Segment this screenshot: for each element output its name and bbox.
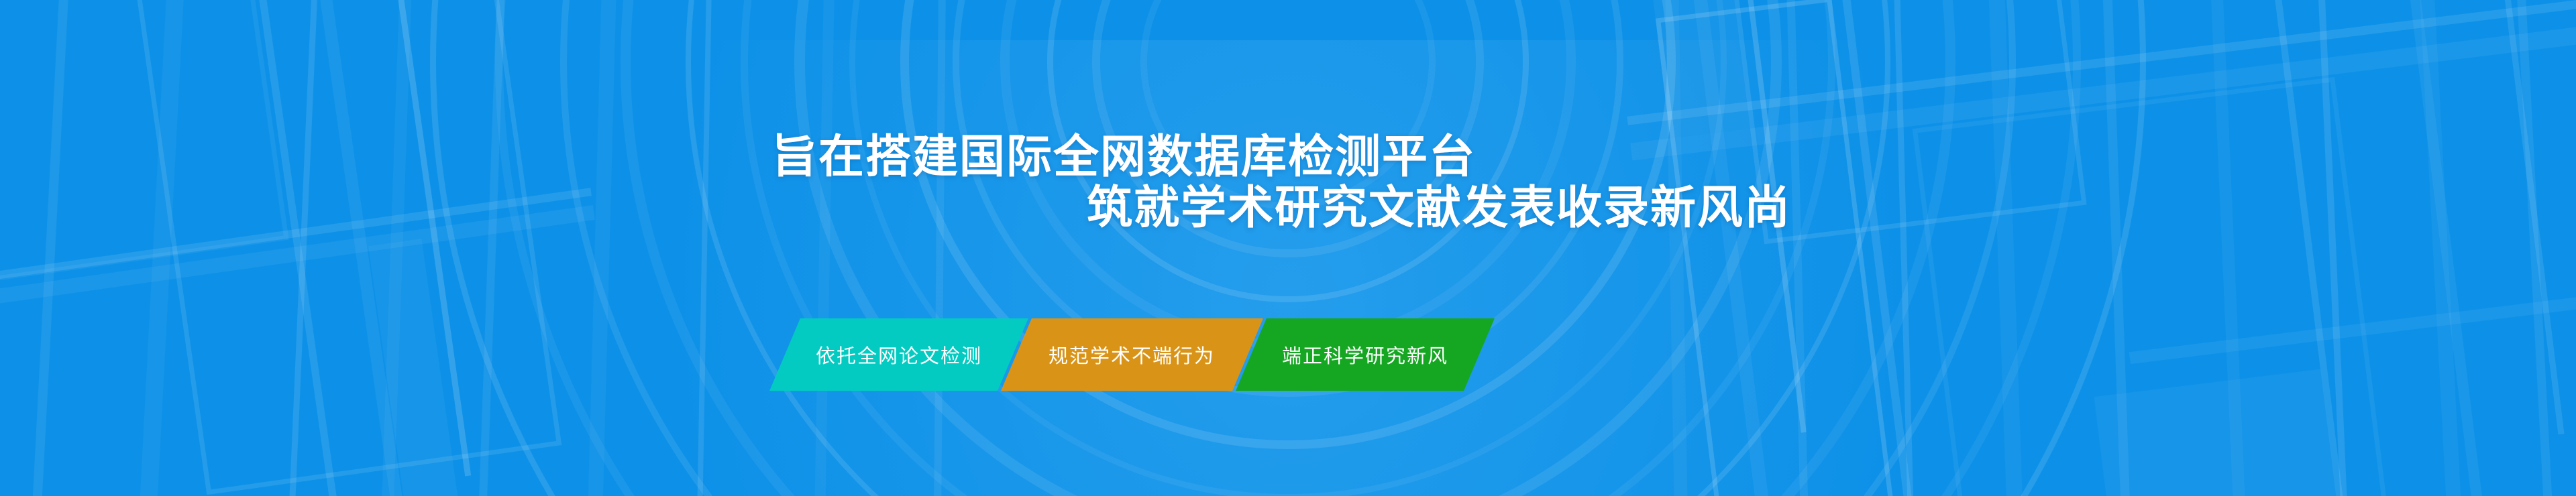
- background-artwork: [0, 0, 2576, 496]
- grid-pattern-left: [0, 0, 652, 496]
- grid-pattern-right: [1606, 0, 2576, 496]
- promo-banner: 旨在搭建国际全网数据库检测平台 筑就学术研究文献发表收录新风尚 依托全网论文检测…: [0, 0, 2576, 496]
- badge-ethos-label: 端正科学研究新风: [1282, 340, 1448, 369]
- headline-line-2: 筑就学术研究文献发表收录新风尚: [0, 182, 2576, 233]
- badge-misconduct[interactable]: 规范学术不端行为: [1001, 318, 1263, 391]
- center-glow: [651, 40, 1925, 496]
- headline-line-1: 旨在搭建国际全网数据库检测平台: [0, 131, 2576, 182]
- feature-badge-group: 依托全网论文检测 规范学术不端行为 端正科学研究新风: [785, 318, 1479, 391]
- badge-detection[interactable]: 依托全网论文检测: [769, 318, 1028, 391]
- badge-detection-label: 依托全网论文检测: [816, 340, 982, 369]
- badge-misconduct-label: 规范学术不端行为: [1049, 340, 1215, 369]
- badge-ethos[interactable]: 端正科学研究新风: [1236, 318, 1495, 391]
- headline-block: 旨在搭建国际全网数据库检测平台 筑就学术研究文献发表收录新风尚: [0, 131, 2576, 233]
